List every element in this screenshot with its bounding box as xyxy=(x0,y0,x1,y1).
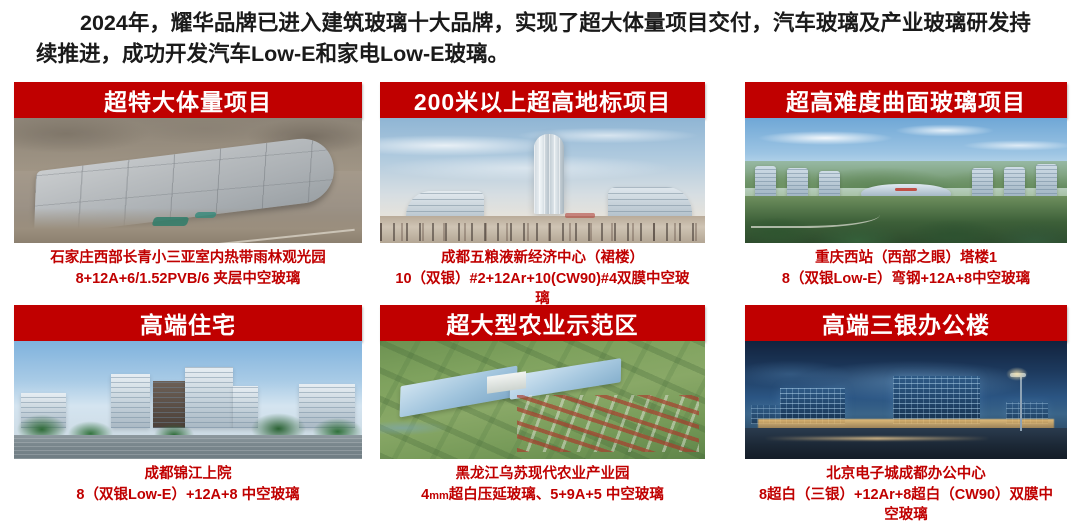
photo-light-trail xyxy=(764,437,989,440)
caption-project-name: 北京电子城成都办公中心 xyxy=(745,464,1067,485)
photo-tower-6 xyxy=(1036,164,1057,198)
caption-glass-spec-wrap: 空玻璃 xyxy=(745,505,1067,526)
caption-spec-rest: 超白压延玻璃、5+9A+5 中空玻璃 xyxy=(449,487,664,503)
card-row-bottom: 高端住宅 成都锦江上院 8（双银Low-E）+12A+8 中空玻璃 xyxy=(0,305,1080,517)
card-banner-title: 超特大体量项目 xyxy=(14,82,362,118)
photo-water-feature xyxy=(14,435,362,459)
caption-spec-unit: mm xyxy=(429,490,449,502)
project-card-premium-residential[interactable]: 高端住宅 成都锦江上院 8（双银Low-E）+12A+8 中空玻璃 xyxy=(14,305,362,505)
project-card-triple-silver-office[interactable]: 高端三银办公楼 北京电子城成都办公中心 8超白（三银）+12Ar+8超白（CW9… xyxy=(745,305,1067,526)
caption-glass-spec: 4mm超白压延玻璃、5+9A+5 中空玻璃 xyxy=(380,485,705,506)
project-photo-cylindrical-tower xyxy=(380,118,705,243)
card-banner-title: 超大型农业示范区 xyxy=(380,305,705,341)
caption-project-name: 石家庄西部长青小三亚室内热带雨林观光园 xyxy=(14,248,362,269)
photo-center-tower xyxy=(534,134,563,214)
caption-glass-spec: 8超白（三银）+12Ar+8超白（CW90）双膜中 xyxy=(745,485,1067,506)
photo-tower-3 xyxy=(819,171,840,199)
project-card-super-large-volume[interactable]: 超特大体量项目 石家庄西部长青小三亚室内热带雨林观光园 8+12A+6/1.52… xyxy=(14,82,362,289)
caption-project-name: 成都五粮液新经济中心（裙楼） xyxy=(380,248,705,269)
photo-street-lamp xyxy=(1020,376,1022,430)
photo-red-roof-houses xyxy=(517,395,699,452)
photo-tower-4 xyxy=(972,168,993,198)
project-caption: 成都五粮液新经济中心（裙楼） 10（双银）#2+12Ar+10(CW90)#4双… xyxy=(380,248,705,310)
caption-project-name: 重庆西站（西部之眼）塔楼1 xyxy=(745,248,1067,269)
caption-glass-spec: 8（双银Low-E）弯钢+12A+8中空玻璃 xyxy=(745,269,1067,290)
project-caption: 北京电子城成都办公中心 8超白（三银）+12Ar+8超白（CW90）双膜中 空玻… xyxy=(745,464,1067,526)
card-banner-title: 200米以上超高地标项目 xyxy=(380,82,705,118)
card-banner-title: 高端住宅 xyxy=(14,305,362,341)
project-caption: 重庆西站（西部之眼）塔楼1 8（双银Low-E）弯钢+12A+8中空玻璃 xyxy=(745,248,1067,289)
photo-street-layer xyxy=(745,428,1067,459)
project-photo-dusk-office xyxy=(745,341,1067,459)
card-banner-title: 高端三银办公楼 xyxy=(745,305,1067,341)
photo-tower-2 xyxy=(787,168,808,198)
photo-crowd-layer xyxy=(380,223,705,241)
photo-left-building xyxy=(406,191,484,219)
caption-project-name: 黑龙江乌苏现代农业产业园 xyxy=(380,464,705,485)
photo-green-patch-2 xyxy=(194,212,217,218)
photo-tower-1 xyxy=(755,166,776,199)
project-card-200m-landmark[interactable]: 200米以上超高地标项目 成都五粮液新经济中心（裙楼） 10（双银）#2+12A… xyxy=(380,82,705,310)
project-card-curved-glass[interactable]: 超高难度曲面玻璃项目 重庆西站（西部之眼）塔楼1 8（双银Low xyxy=(745,82,1067,289)
caption-project-name: 成都锦江上院 xyxy=(14,464,362,485)
photo-green-patch-1 xyxy=(152,217,190,226)
photo-river xyxy=(380,407,491,442)
photo-right-building xyxy=(608,187,693,218)
caption-glass-spec: 10（双银）#2+12Ar+10(CW90)#4双膜中空玻 xyxy=(380,269,705,290)
project-photo-agricultural-zone xyxy=(380,341,705,459)
project-card-agriculture-zone[interactable]: 超大型农业示范区 黑龙江乌苏现代农业产业园 4mm超白压延玻璃、5+9A+5 中… xyxy=(380,305,705,505)
card-row-top: 超特大体量项目 石家庄西部长青小三亚室内热带雨林观光园 8+12A+6/1.52… xyxy=(0,82,1080,305)
project-photo-railway-station xyxy=(745,118,1067,243)
project-caption: 成都锦江上院 8（双银Low-E）+12A+8 中空玻璃 xyxy=(14,464,362,505)
caption-spec-prefix: 4 xyxy=(421,487,429,503)
photo-red-accent xyxy=(565,213,594,218)
photo-lamp-glow xyxy=(1006,367,1028,381)
project-card-grid: 超特大体量项目 石家庄西部长青小三亚室内热带雨林观光园 8+12A+6/1.52… xyxy=(0,82,1080,517)
caption-glass-spec: 8+12A+6/1.52PVB/6 夹层中空玻璃 xyxy=(14,269,362,290)
project-photo-aerial-industrial-park xyxy=(14,118,362,243)
photo-office-right xyxy=(893,376,980,423)
caption-glass-spec: 8（双银Low-E）+12A+8 中空玻璃 xyxy=(14,485,362,506)
photo-tree-row xyxy=(14,409,362,437)
card-banner-title: 超高难度曲面玻璃项目 xyxy=(745,82,1067,118)
project-caption: 黑龙江乌苏现代农业产业园 4mm超白压延玻璃、5+9A+5 中空玻璃 xyxy=(380,464,705,505)
photo-tower-5 xyxy=(1004,167,1025,198)
page-title: 2024年，耀华品牌已进入建筑玻璃十大品牌，实现了超大体量项目交付，汽车玻璃及产… xyxy=(36,8,1052,70)
project-photo-residential-towers xyxy=(14,341,362,459)
presentation-slide: 2024年，耀华品牌已进入建筑玻璃十大品牌，实现了超大体量项目交付，汽车玻璃及产… xyxy=(0,0,1080,517)
project-caption: 石家庄西部长青小三亚室内热带雨林观光园 8+12A+6/1.52PVB/6 夹层… xyxy=(14,248,362,289)
photo-ground-layer xyxy=(14,208,362,243)
